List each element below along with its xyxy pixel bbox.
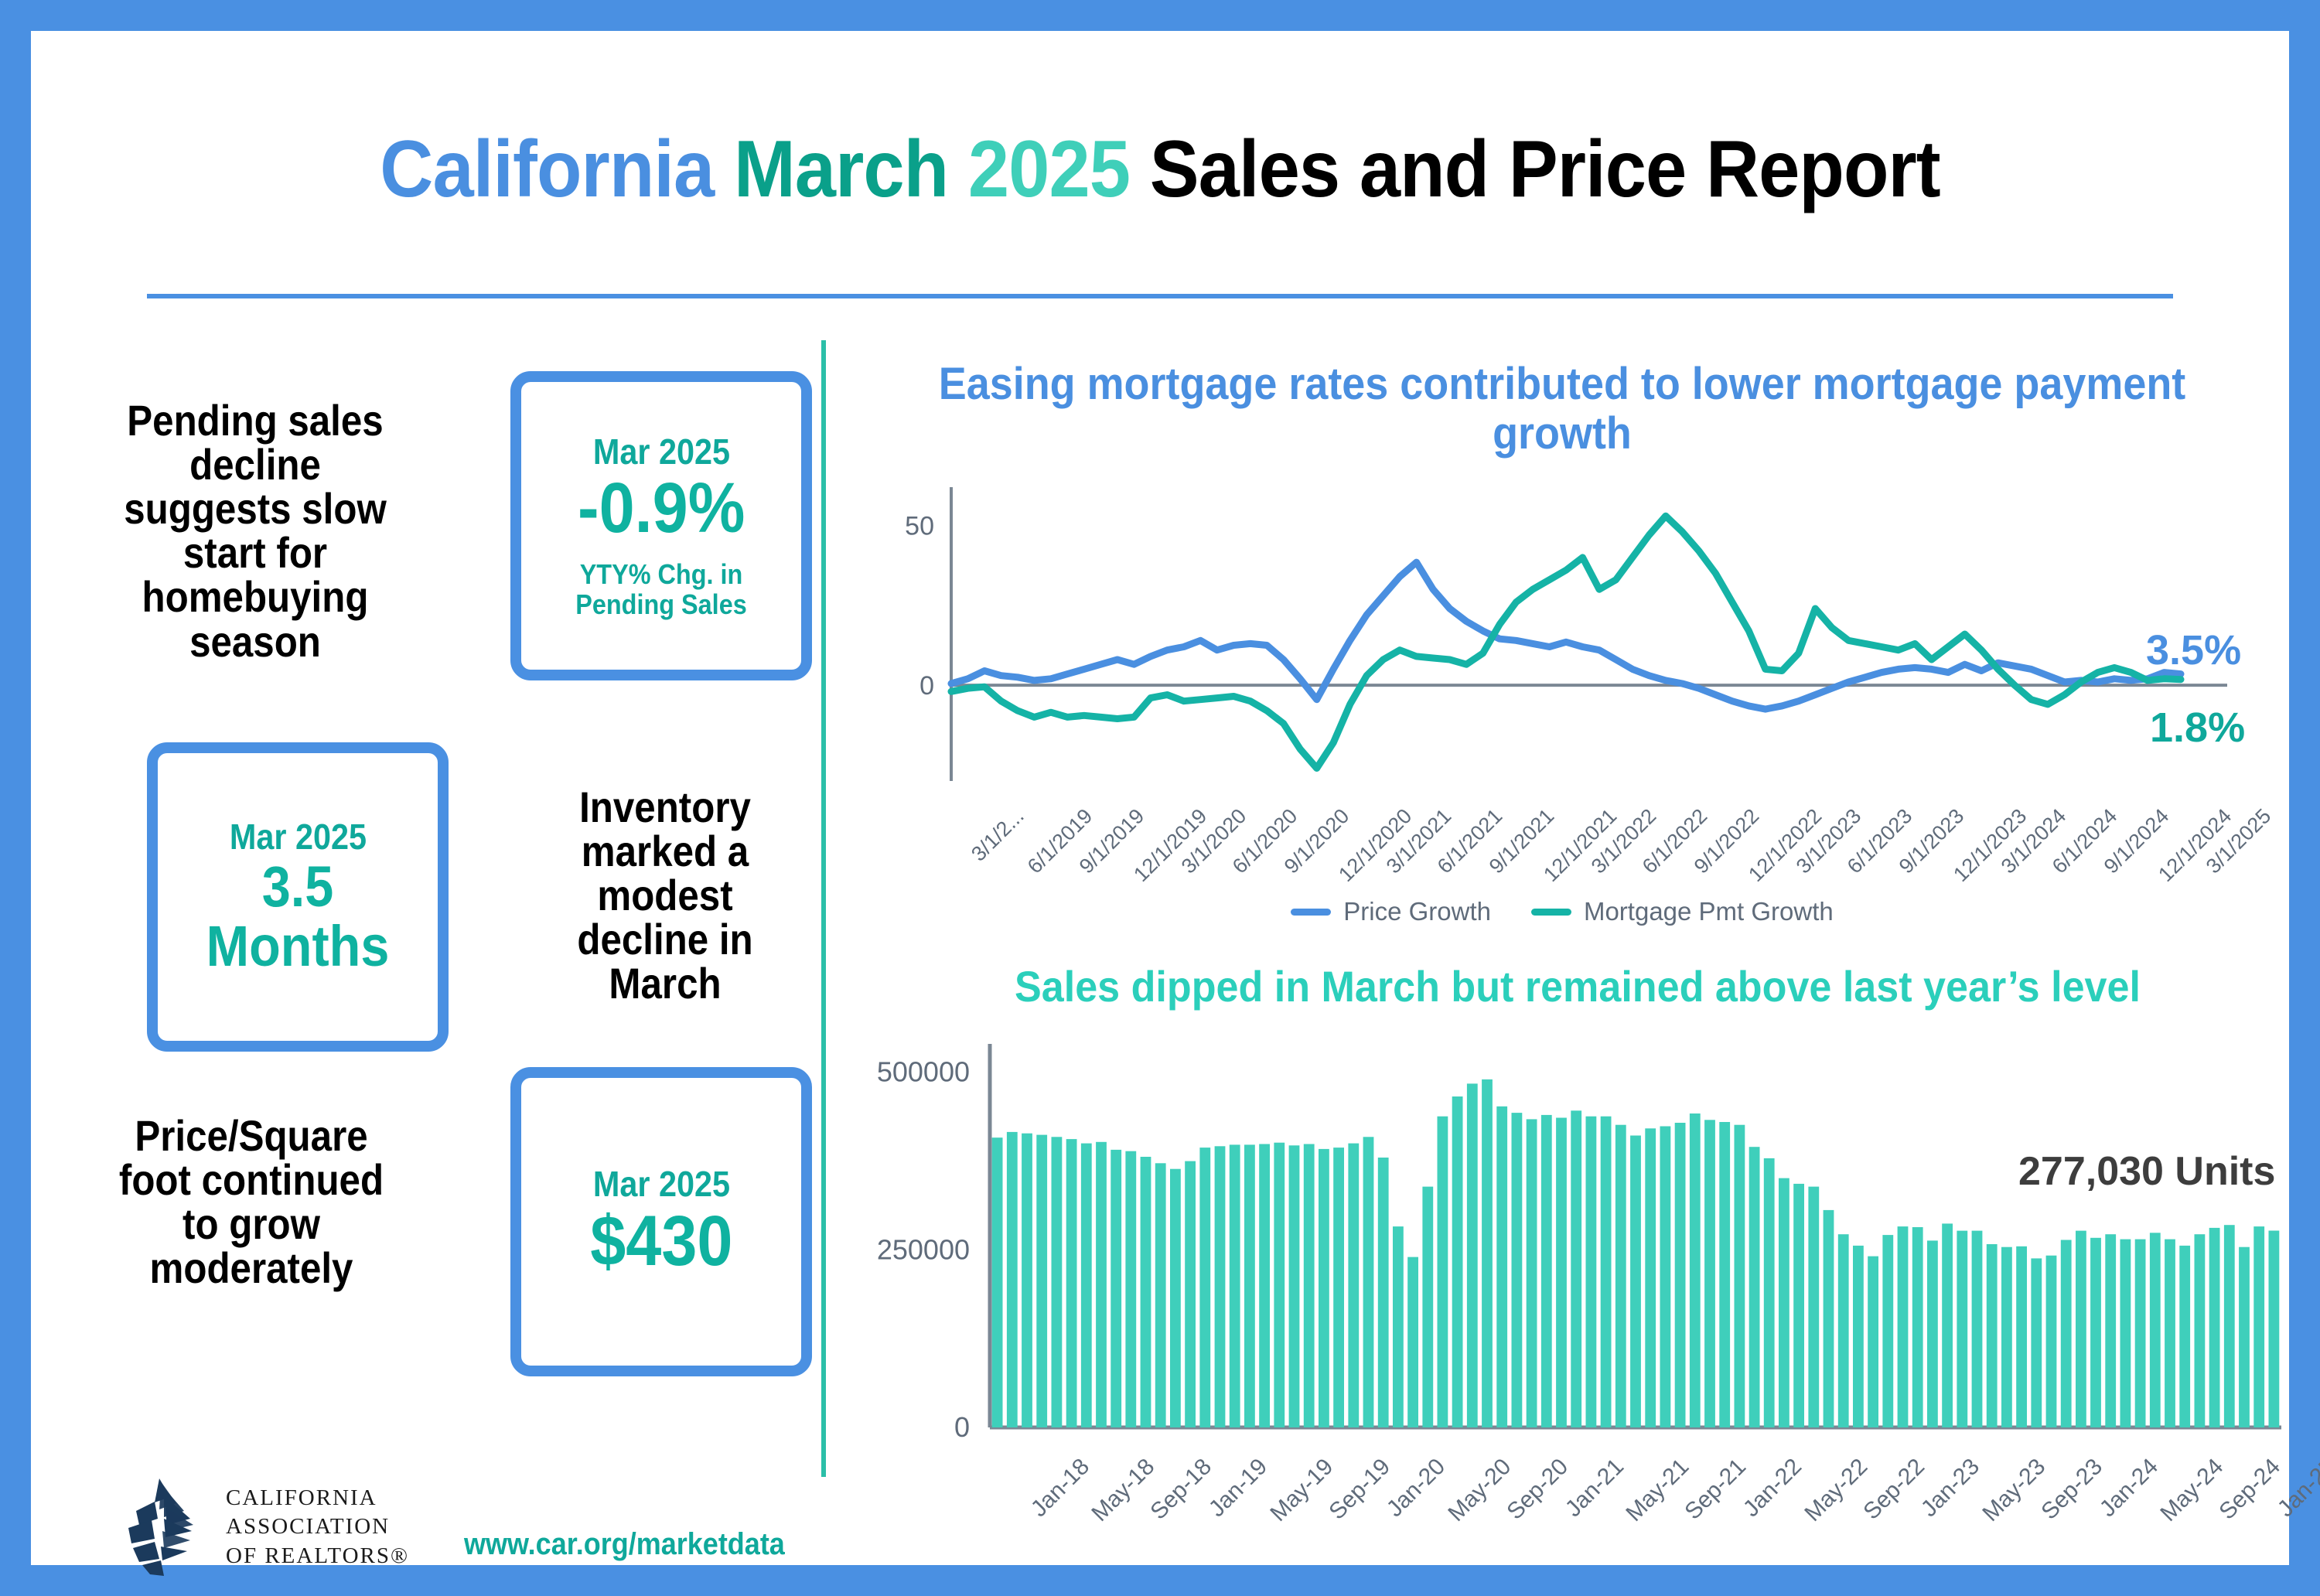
bar: [1601, 1117, 1612, 1427]
bar: [1155, 1163, 1166, 1427]
x-tick-label: Jan-21: [1560, 1454, 1629, 1523]
stat-value: 3.5 Months: [172, 857, 424, 977]
mortgage-pmt-growth-end-label: 1.8%: [2150, 704, 2245, 752]
stat-card-pending-sales: Mar 2025 -0.9% YTY% Chg. in Pending Sale…: [510, 371, 812, 680]
line-chart-svg: 050: [851, 479, 2274, 789]
x-tick-label: Jan-18: [1025, 1454, 1094, 1523]
x-tick-label: Jan-25: [2273, 1454, 2320, 1523]
bar: [2165, 1240, 2175, 1427]
bar: [1036, 1135, 1047, 1427]
poster-frame: California March 2025 Sales and Price Re…: [31, 31, 2289, 1565]
stat-card-price-per-sqft: Mar 2025 $430: [510, 1067, 812, 1376]
stat-sublabel: YTY% Chg. in Pending Sales: [535, 560, 787, 620]
stat-value: $430: [590, 1204, 732, 1279]
x-tick-label: May-19: [1265, 1454, 1339, 1527]
title-part-california: California: [380, 124, 734, 214]
legend-swatch-icon: [1291, 909, 1331, 916]
bar: [1022, 1134, 1032, 1427]
title-part-rest: Sales and Price Report: [1150, 124, 1940, 214]
y-tick-label: 250000: [877, 1233, 970, 1265]
bar: [1793, 1184, 1804, 1427]
bar: [1333, 1148, 1344, 1427]
bar: [1467, 1083, 1478, 1427]
price-growth-end-label: 3.5%: [2146, 626, 2241, 674]
bar: [2076, 1231, 2086, 1427]
stat-card-inventory: Mar 2025 3.5 Months: [147, 742, 449, 1052]
bar: [2031, 1258, 2042, 1427]
bar: [1066, 1139, 1077, 1427]
bar: [1081, 1144, 1092, 1427]
x-tick-label: 3/1/2...: [967, 804, 1029, 866]
bar: [1927, 1240, 1938, 1427]
bar: [1363, 1137, 1374, 1427]
x-tick-label: May-18: [1087, 1454, 1161, 1527]
x-tick-label: May-20: [1443, 1454, 1517, 1527]
bar: [1527, 1119, 1537, 1427]
bar: [1868, 1257, 1878, 1427]
bar: [1586, 1117, 1597, 1427]
page-title: California March 2025 Sales and Price Re…: [121, 124, 2199, 216]
line-chart-legend: Price Growth Mortgage Pmt Growth: [851, 897, 2274, 926]
bar: [1052, 1137, 1063, 1427]
bar: [1719, 1122, 1730, 1427]
bar: [1541, 1115, 1552, 1427]
bar: [2090, 1238, 2101, 1427]
bar: [2269, 1231, 2280, 1428]
bar: [1215, 1146, 1226, 1427]
bar: [1645, 1128, 1656, 1427]
bar-chart-svg: 0250000500000: [851, 1036, 2305, 1438]
bar: [1824, 1210, 1834, 1427]
bar: [1660, 1127, 1671, 1428]
legend-label: Price Growth: [1343, 897, 1491, 926]
bar: [1615, 1125, 1626, 1427]
line-chart: 050: [851, 479, 2274, 789]
bar: [1007, 1132, 1018, 1427]
stat-value: -0.9%: [578, 471, 745, 546]
line-series-0: [951, 562, 2181, 709]
bar-chart-title: Sales dipped in March but remained above…: [902, 963, 2253, 1011]
bar: [1422, 1187, 1433, 1427]
bar: [1987, 1244, 1998, 1427]
bar: [2209, 1228, 2220, 1427]
bar: [1764, 1158, 1775, 1427]
column-divider: [821, 340, 826, 1477]
x-tick-label: Sep-23: [2036, 1454, 2107, 1525]
bar: [2001, 1247, 2012, 1427]
logo-line-california: CALIFORNIA: [226, 1484, 409, 1512]
x-tick-label: Sep-22: [1858, 1454, 1929, 1525]
legend-label: Mortgage Pmt Growth: [1584, 897, 1834, 926]
bar: [1942, 1223, 1953, 1427]
title-part-year: 2025: [968, 124, 1150, 214]
logo-line-realtors: OF REALTORS®: [226, 1542, 409, 1570]
x-tick-label: May-21: [1622, 1454, 1695, 1527]
bar: [1199, 1148, 1210, 1427]
bar: [1749, 1147, 1760, 1427]
bar: [1348, 1144, 1359, 1427]
logo-line-association: ASSOCIATION: [226, 1512, 409, 1541]
x-tick-label: Sep-18: [1145, 1454, 1216, 1525]
bar: [1512, 1113, 1523, 1427]
california-association-of-realtors-logo-icon: [116, 1477, 209, 1577]
bar: [2061, 1240, 2072, 1428]
bar: [1482, 1079, 1493, 1427]
bar: [1690, 1113, 1701, 1427]
bar: [2239, 1247, 2250, 1427]
bar: [2179, 1246, 2190, 1427]
bar: [1704, 1120, 1715, 1427]
title-divider: [147, 294, 2173, 298]
bar: [2253, 1226, 2264, 1427]
bar: [2150, 1233, 2161, 1427]
stat-month-label: Mar 2025: [229, 817, 366, 857]
legend-swatch-icon: [1531, 909, 1571, 916]
x-tick-label: Jan-20: [1382, 1454, 1451, 1523]
bar: [1407, 1257, 1418, 1427]
y-tick-label: 0: [919, 671, 934, 701]
x-tick-label: May-22: [1800, 1454, 1873, 1527]
bar: [1393, 1226, 1404, 1427]
bar: [2135, 1240, 2146, 1427]
bar: [1972, 1231, 1983, 1427]
bar: [1630, 1136, 1641, 1428]
x-tick-label: Jan-22: [1738, 1454, 1807, 1523]
bar: [2046, 1256, 2057, 1427]
bar: [1853, 1246, 1864, 1427]
x-tick-label: Sep-20: [1502, 1454, 1573, 1525]
x-tick-label: Sep-24: [2215, 1454, 2286, 1525]
bar: [2195, 1234, 2206, 1427]
bar: [2120, 1240, 2131, 1427]
bar: [992, 1137, 1003, 1427]
bar: [1957, 1231, 1967, 1427]
x-tick-label: Jan-24: [2095, 1454, 2164, 1523]
bar: [1111, 1150, 1121, 1427]
x-tick-label: Jan-19: [1204, 1454, 1273, 1523]
bar: [1912, 1227, 1923, 1427]
bar: [1141, 1157, 1151, 1427]
bar: [1244, 1144, 1255, 1427]
bar: [1125, 1151, 1136, 1427]
bar: [1882, 1235, 1893, 1427]
bar: [1170, 1169, 1181, 1427]
stat-blurb-price-per-sqft: Price/Square foot continued to grow mode…: [105, 1113, 397, 1290]
x-tick-label: May-23: [1977, 1454, 2051, 1527]
bar: [1571, 1110, 1581, 1427]
bar: [1230, 1144, 1240, 1427]
bar: [1259, 1144, 1270, 1428]
bar-chart: 0250000500000: [851, 1036, 2305, 1438]
bar: [1496, 1107, 1507, 1427]
x-tick-label: Jan-23: [1916, 1454, 1985, 1523]
x-tick-label: Sep-19: [1324, 1454, 1395, 1525]
bar: [1289, 1145, 1300, 1427]
bar: [1438, 1117, 1448, 1427]
x-tick-label: Sep-21: [1680, 1454, 1752, 1525]
legend-item-mortgage-pmt-growth: Mortgage Pmt Growth: [1531, 897, 1834, 926]
legend-item-price-growth: Price Growth: [1291, 897, 1491, 926]
bar: [1452, 1096, 1463, 1427]
title-part-march: March: [734, 124, 968, 214]
x-tick-label: May-24: [2156, 1454, 2230, 1527]
bar: [1274, 1143, 1285, 1427]
y-tick-label: 0: [954, 1411, 970, 1438]
bar: [1735, 1125, 1745, 1427]
stats-column: Pending sales decline suggests slow star…: [77, 340, 812, 1485]
bar: [1556, 1118, 1567, 1428]
y-tick-label: 50: [905, 512, 934, 541]
bar: [1185, 1161, 1196, 1427]
bar: [2016, 1246, 2027, 1427]
bar: [2224, 1225, 2235, 1427]
bar: [1304, 1144, 1315, 1428]
bar: [1096, 1142, 1107, 1427]
bar: [1838, 1234, 1849, 1427]
stat-month-label: Mar 2025: [592, 1165, 729, 1204]
bar: [1808, 1187, 1819, 1427]
y-tick-label: 500000: [877, 1056, 970, 1088]
stat-blurb-inventory: Inventory marked a modest decline in Mar…: [529, 785, 801, 1006]
line-chart-title: Easing mortgage rates contributed to low…: [900, 360, 2223, 459]
stat-blurb-pending-sales: Pending sales decline suggests slow star…: [112, 398, 398, 663]
bar: [1898, 1226, 1909, 1427]
bar: [1779, 1178, 1789, 1427]
bar: [1378, 1158, 1389, 1427]
sales-units-annotation: 277,030 Units: [2018, 1148, 2275, 1195]
bar: [2105, 1234, 2116, 1427]
car-logo: CALIFORNIA ASSOCIATION OF REALTORS®: [116, 1473, 472, 1581]
bar: [1319, 1149, 1329, 1427]
bar: [1675, 1123, 1686, 1427]
logo-wordmark: CALIFORNIA ASSOCIATION OF REALTORS®: [226, 1484, 409, 1570]
stat-month-label: Mar 2025: [592, 432, 729, 472]
marketdata-url[interactable]: www.car.org/marketdata: [464, 1527, 785, 1562]
